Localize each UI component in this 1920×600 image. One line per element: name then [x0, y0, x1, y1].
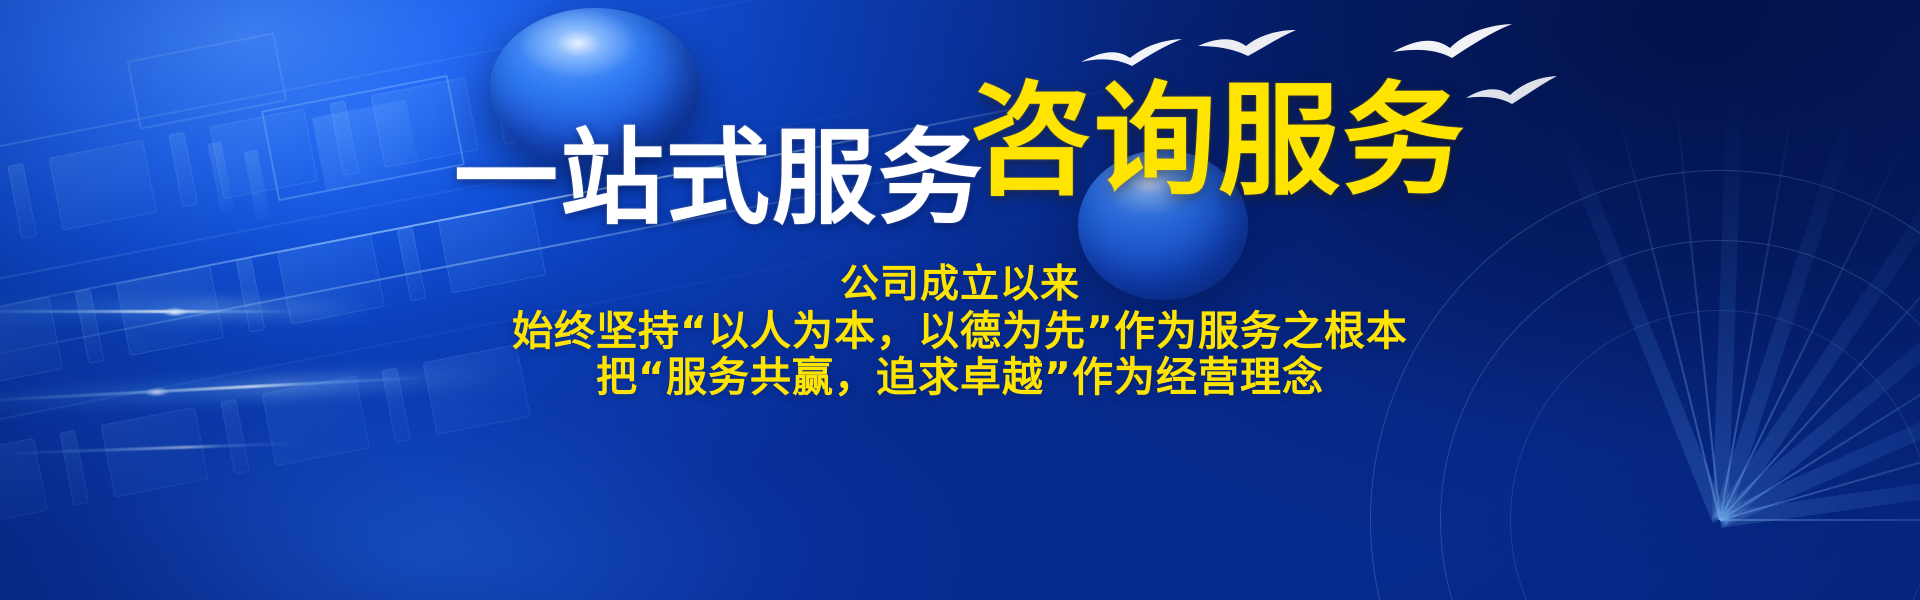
promo-banner: 一站式服务 咨询服务 公司成立以来 始终坚持“以人为本，以德为先”作为服务之根本…	[0, 0, 1920, 600]
vignette-overlay	[0, 0, 1920, 600]
